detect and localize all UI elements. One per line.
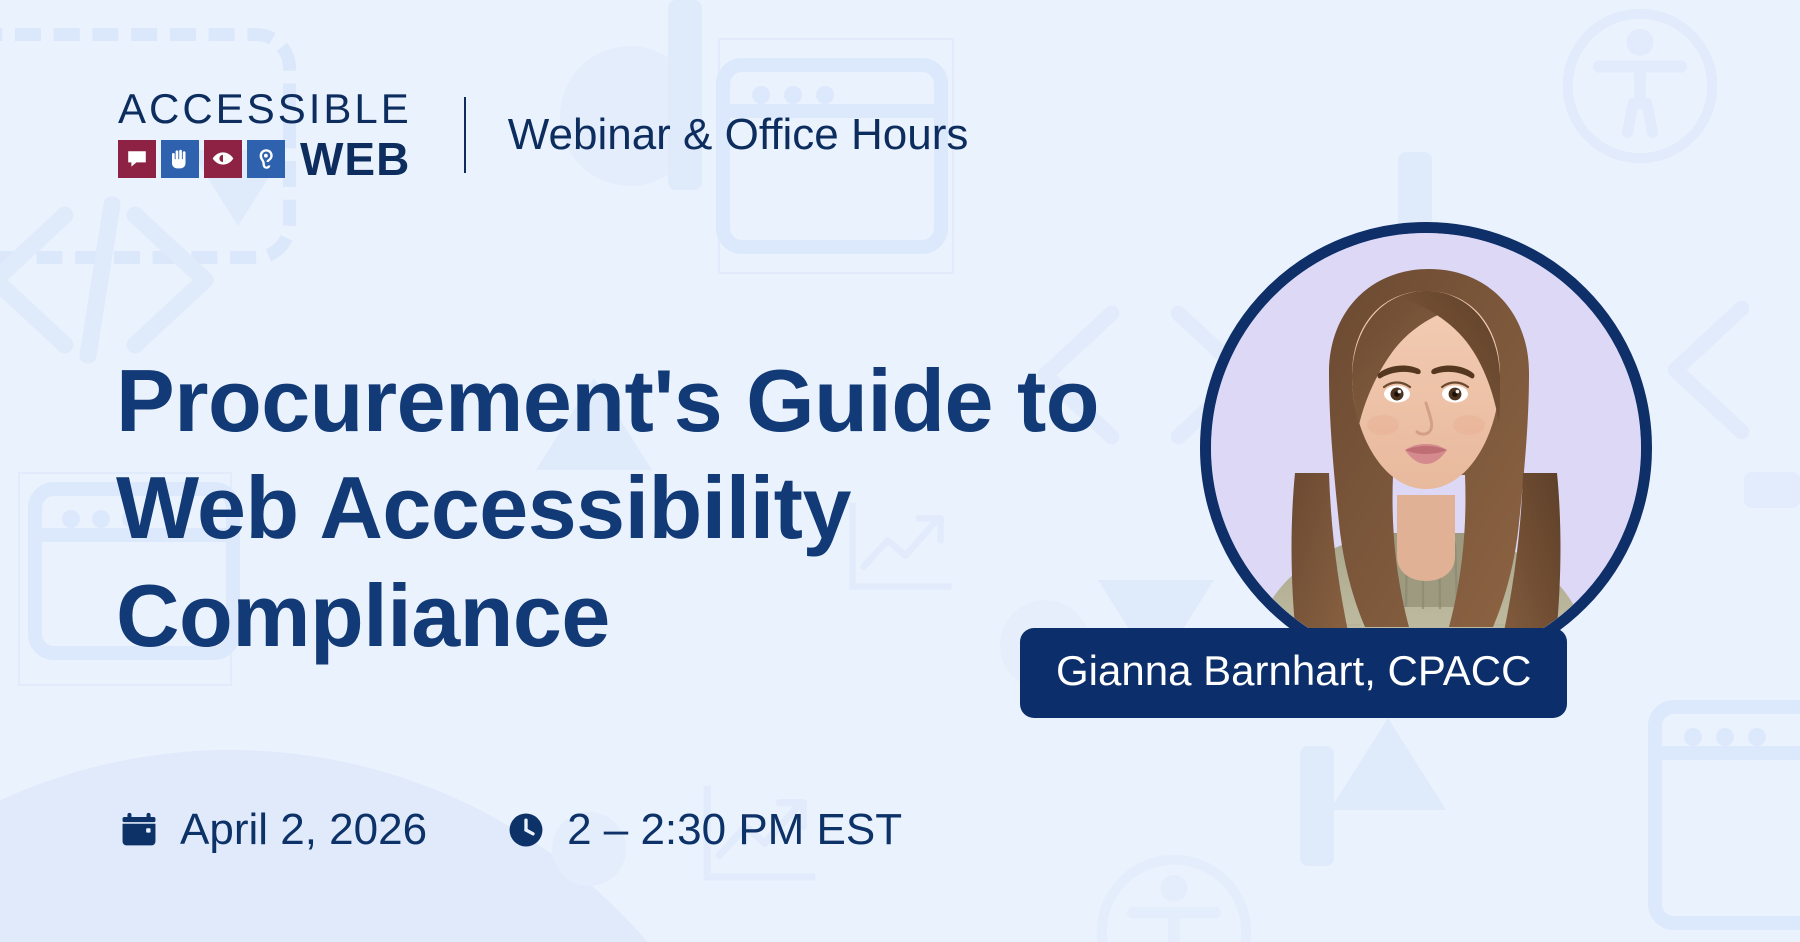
header-tagline: Webinar & Office Hours [508, 110, 969, 160]
speaker-name-badge: Gianna Barnhart, CPACC [1020, 628, 1567, 718]
webinar-promo-graphic: ACCESSIBLE [0, 0, 1800, 942]
event-meta: April 2, 2026 2 – 2:30 PM EST [118, 805, 902, 855]
eye-icon [204, 140, 242, 178]
logo-bottom-row: WEB [118, 136, 412, 182]
accessible-web-logo[interactable]: ACCESSIBLE [118, 88, 412, 182]
content-layer: ACCESSIBLE [0, 0, 1800, 942]
speaker-block: Gianna Barnhart, CPACC [1200, 222, 1652, 674]
event-time: 2 – 2:30 PM EST [505, 805, 902, 855]
hand-icon [161, 140, 199, 178]
logo-word-web: WEB [300, 136, 410, 182]
header: ACCESSIBLE [118, 88, 968, 182]
event-date-text: April 2, 2026 [180, 805, 427, 855]
speech-bubble-icon [118, 140, 156, 178]
page-title: Procurement's Guide to Web Accessibility… [116, 347, 1116, 669]
event-date: April 2, 2026 [118, 805, 427, 855]
ear-icon [247, 140, 285, 178]
header-divider [464, 97, 466, 173]
clock-icon [505, 809, 547, 851]
event-time-text: 2 – 2:30 PM EST [567, 805, 902, 855]
speaker-portrait [1200, 222, 1652, 674]
calendar-icon [118, 809, 160, 851]
logo-word-accessible: ACCESSIBLE [118, 88, 412, 130]
